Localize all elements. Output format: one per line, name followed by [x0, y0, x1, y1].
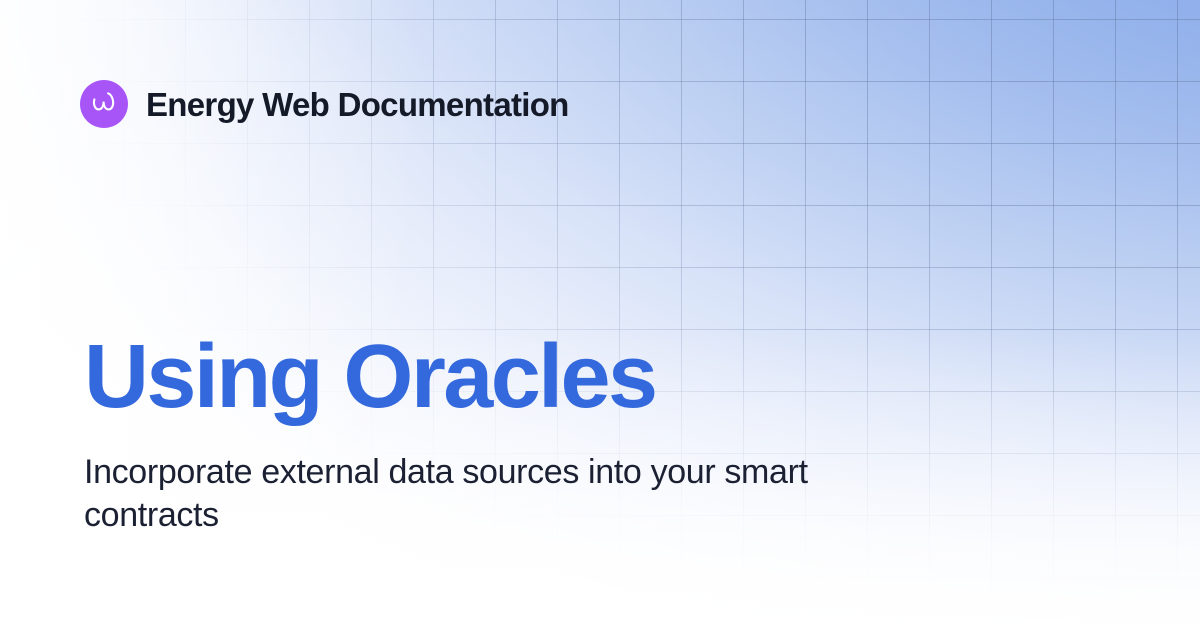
energy-web-logo	[80, 80, 128, 128]
page-subtitle: Incorporate external data sources into y…	[84, 451, 829, 538]
energy-web-omega-icon	[89, 89, 119, 119]
content-block: Using Oracles Incorporate external data …	[84, 330, 884, 538]
brand-title: Energy Web Documentation	[146, 88, 569, 121]
og-card: Energy Web Documentation Using Oracles I…	[0, 0, 1200, 630]
page-title: Using Oracles	[84, 330, 884, 425]
brand-header: Energy Web Documentation	[80, 80, 569, 128]
